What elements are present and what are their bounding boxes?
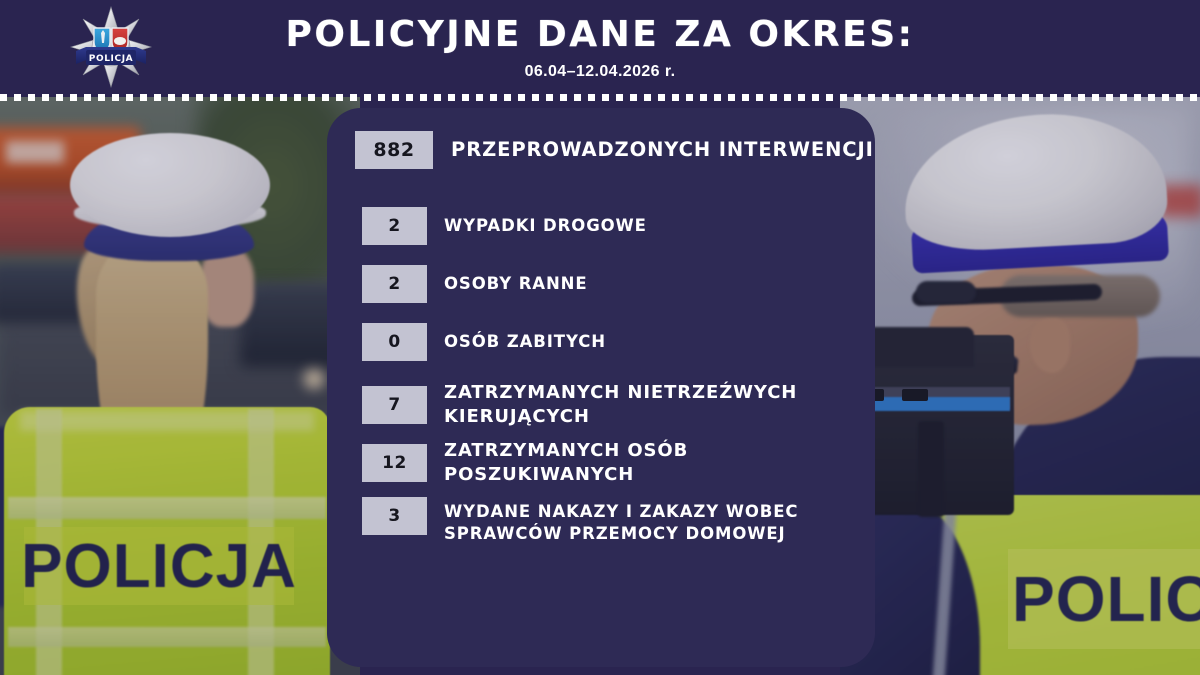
stat-row: 2 WYPADKI DROGOWE bbox=[355, 207, 647, 245]
stat-value: 882 bbox=[355, 131, 433, 169]
stat-row: 882 PRZEPROWADZONYCH INTERWENCJI bbox=[355, 131, 874, 169]
stat-label: WYPADKI DROGOWE bbox=[444, 215, 647, 237]
stat-value: 7 bbox=[362, 386, 427, 424]
female-officer-photo: POLICJA bbox=[0, 97, 360, 675]
header-bar: POLICJA POLICYJNE DANE ZA OKRES: 06.04–1… bbox=[0, 0, 1200, 97]
stat-value: 0 bbox=[362, 323, 427, 361]
officer-with-radar-photo: POLIC bbox=[840, 97, 1200, 675]
stat-row: 3 WYDANE NAKAZY I ZAKAZY WOBEC SPRAWCÓW … bbox=[355, 497, 798, 545]
date-range-subtitle: 06.04–12.04.2026 r. bbox=[0, 63, 1200, 81]
stat-row: 0 OSÓB ZABITYCH bbox=[355, 323, 606, 361]
stat-label-line-1: WYDANE NAKAZY I ZAKAZY WOBEC bbox=[444, 501, 798, 523]
stat-label: WYDANE NAKAZY I ZAKAZY WOBEC SPRAWCÓW PR… bbox=[444, 501, 798, 545]
dashed-divider bbox=[0, 94, 1200, 101]
infographic-stage: POLICJA POLIC bbox=[0, 0, 1200, 675]
stat-value: 3 bbox=[362, 497, 427, 535]
stat-value: 12 bbox=[362, 444, 427, 482]
stat-row: 2 OSOBY RANNE bbox=[355, 265, 588, 303]
stat-label: OSÓB ZABITYCH bbox=[444, 331, 606, 353]
stats-card: 882 PRZEPROWADZONYCH INTERWENCJI 2 WYPAD… bbox=[327, 108, 875, 667]
stat-label: OSOBY RANNE bbox=[444, 273, 588, 295]
photo-overlay bbox=[840, 97, 1200, 675]
stat-label: ZATRZYMANYCH OSÓB POSZUKIWANYCH bbox=[444, 439, 875, 487]
photo-overlay bbox=[0, 97, 360, 675]
stat-row: 7 ZATRZYMANYCH NIETRZEŹWYCH KIERUJĄCYCH bbox=[355, 381, 875, 429]
stat-label: ZATRZYMANYCH NIETRZEŹWYCH KIERUJĄCYCH bbox=[444, 381, 875, 429]
stat-label: PRZEPROWADZONYCH INTERWENCJI bbox=[451, 137, 874, 163]
stat-row: 12 ZATRZYMANYCH OSÓB POSZUKIWANYCH bbox=[355, 439, 875, 487]
stat-value: 2 bbox=[362, 265, 427, 303]
stat-label-line-2: SPRAWCÓW PRZEMOCY DOMOWEJ bbox=[444, 523, 798, 545]
page-title: POLICYJNE DANE ZA OKRES: bbox=[0, 14, 1200, 55]
stat-value: 2 bbox=[362, 207, 427, 245]
